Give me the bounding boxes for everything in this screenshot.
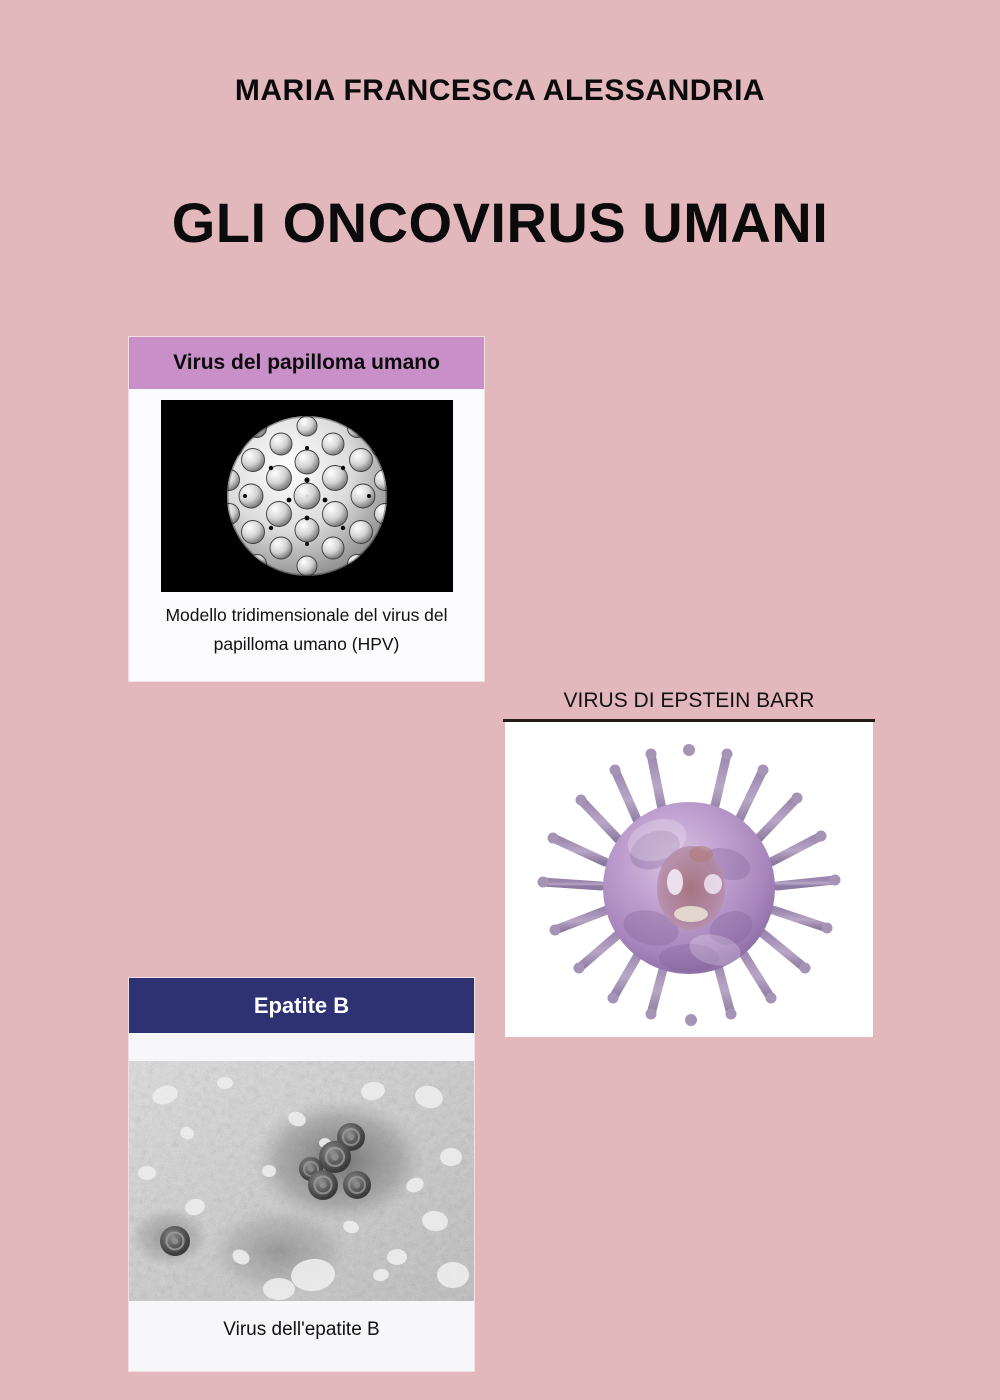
hpv-card-header: Virus del papilloma umano	[129, 337, 484, 389]
hpv-card-caption: Modello tridimensionale del virus del pa…	[129, 592, 484, 681]
hpv-card-body: Modello tridimensionale del virus del pa…	[129, 389, 484, 681]
hbv-card-caption: Virus dell'epatite B	[129, 1301, 474, 1371]
ebv-block: VIRUS DI EPSTEIN BARR	[503, 688, 875, 1037]
hpv-card: Virus del papilloma umano	[129, 337, 484, 681]
hbv-card-header: Epatite B	[129, 978, 474, 1033]
ebv-title: VIRUS DI EPSTEIN BARR	[503, 688, 875, 719]
book-title: GLI ONCOVIRUS UMANI	[0, 192, 1000, 254]
hbv-card-spacer	[129, 1033, 474, 1061]
hpv-capsid-image	[161, 400, 453, 592]
author-name: MARIA FRANCESCA ALESSANDRIA	[0, 74, 1000, 107]
hbv-card: Epatite B	[129, 978, 474, 1371]
hbv-micrograph-image	[129, 1061, 474, 1301]
ebv-virion-image	[505, 722, 873, 1037]
